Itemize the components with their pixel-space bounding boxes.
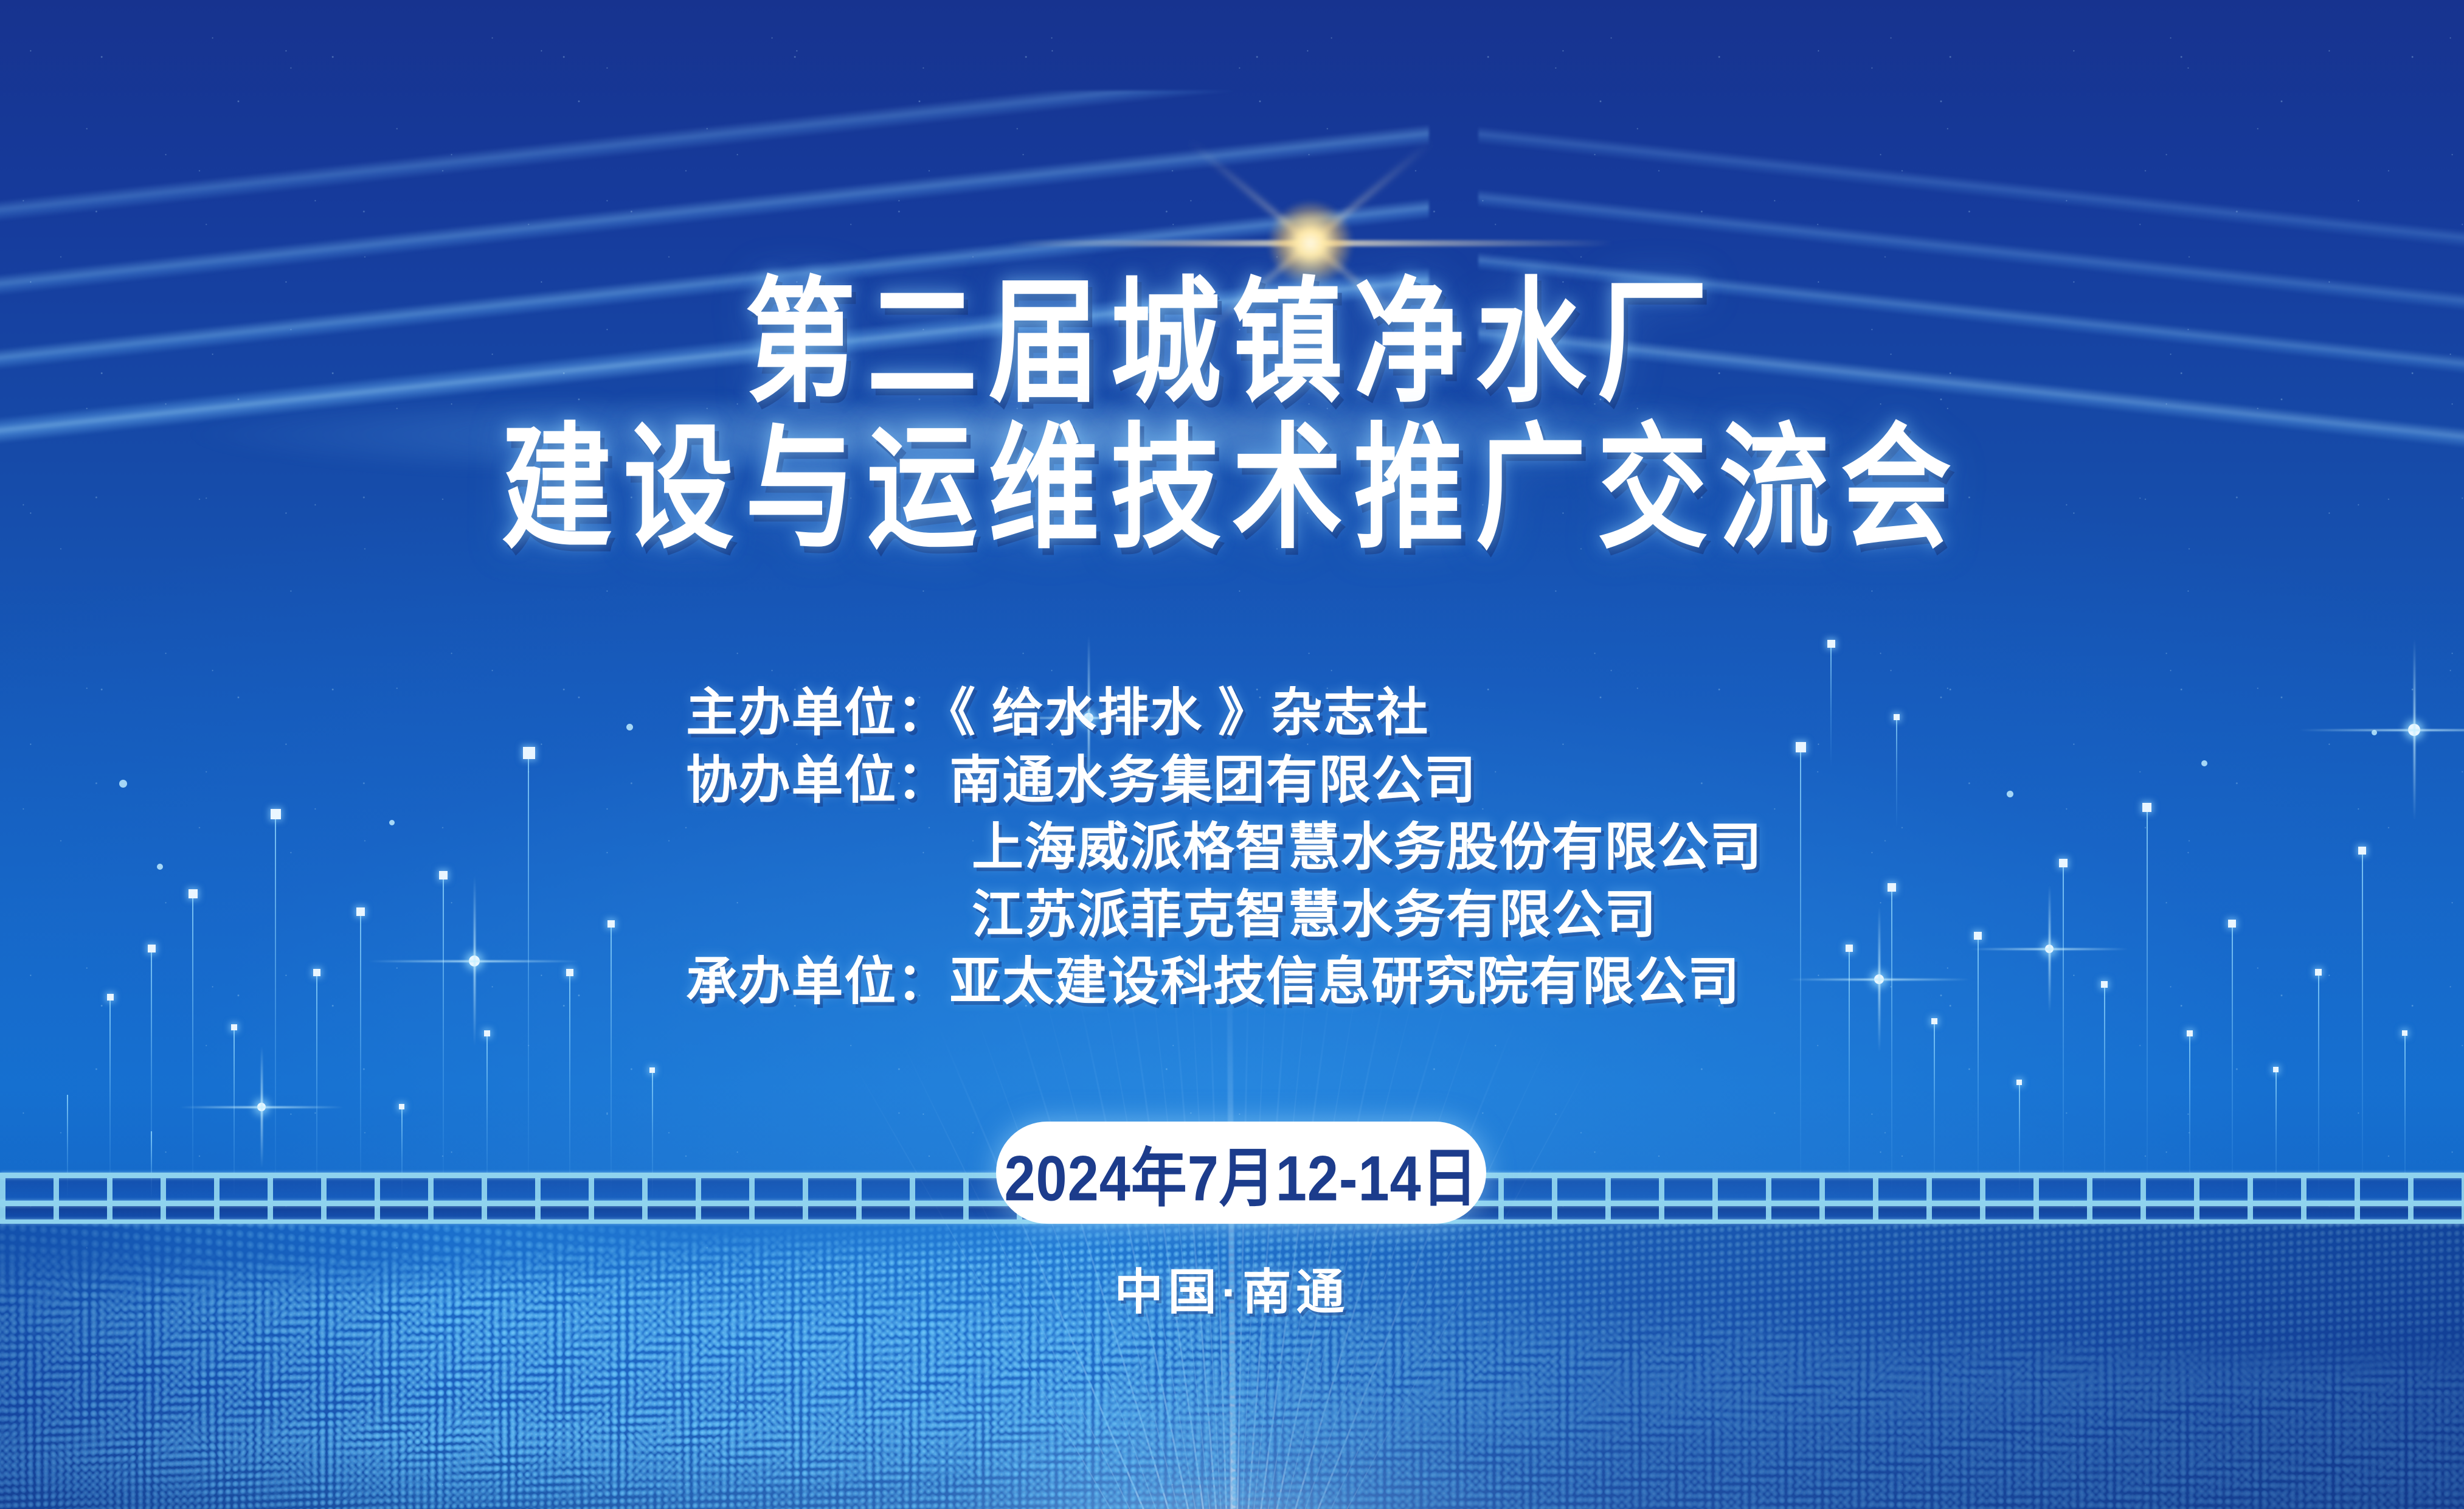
organizer-row-host: 主办单位：《 给水排水 》杂志社 <box>686 680 1763 748</box>
title-line-2: 建设与运维技术推广交流会 <box>0 421 2464 556</box>
organizer-list: 主办单位：《 给水排水 》杂志社 协办单位：南通水务集团有限公司 上海威派格智慧… <box>686 680 1763 1016</box>
organizer-name: 江苏派菲克智慧水务有限公司 <box>972 886 1657 944</box>
organizer-name: 亚太建设科技信息研究院有限公司 <box>950 953 1741 1011</box>
organizer-name: 《 给水排水 》杂志社 <box>950 684 1429 742</box>
page-title: 第二届城镇净水厂 建设与运维技术推广交流会 <box>0 275 2464 532</box>
date-badge: 2024年7月12-14日 <box>996 1122 1486 1224</box>
organizer-label: 协办单位： <box>686 752 950 810</box>
organizer-name: 南通水务集团有限公司 <box>950 752 1477 810</box>
organizer-label: 主办单位： <box>686 684 950 742</box>
organizer-row-coorganizer-3: 江苏派菲克智慧水务有限公司 <box>686 882 1763 949</box>
organizer-label: 承办单位： <box>686 953 950 1011</box>
poster-content: 第二届城镇净水厂 建设与运维技术推广交流会 主办单位：《 给水排水 》杂志社 协… <box>0 0 2464 1509</box>
date-badge-text: 2024年7月12-14日 <box>1004 1126 1478 1219</box>
location-text: 中国·南通 <box>0 1253 2464 1323</box>
title-line-1: 第二届城镇净水厂 <box>0 275 2464 410</box>
organizer-name: 上海威派格智慧水务股份有限公司 <box>972 819 1763 876</box>
organizer-row-undertaker: 承办单位：亚太建设科技信息研究院有限公司 <box>686 949 1763 1016</box>
organizer-row-coorganizer: 协办单位：南通水务集团有限公司 <box>686 748 1763 815</box>
organizer-row-coorganizer-2: 上海威派格智慧水务股份有限公司 <box>686 814 1763 882</box>
poster-canvas: 第二届城镇净水厂 建设与运维技术推广交流会 主办单位：《 给水排水 》杂志社 协… <box>0 0 2464 1509</box>
